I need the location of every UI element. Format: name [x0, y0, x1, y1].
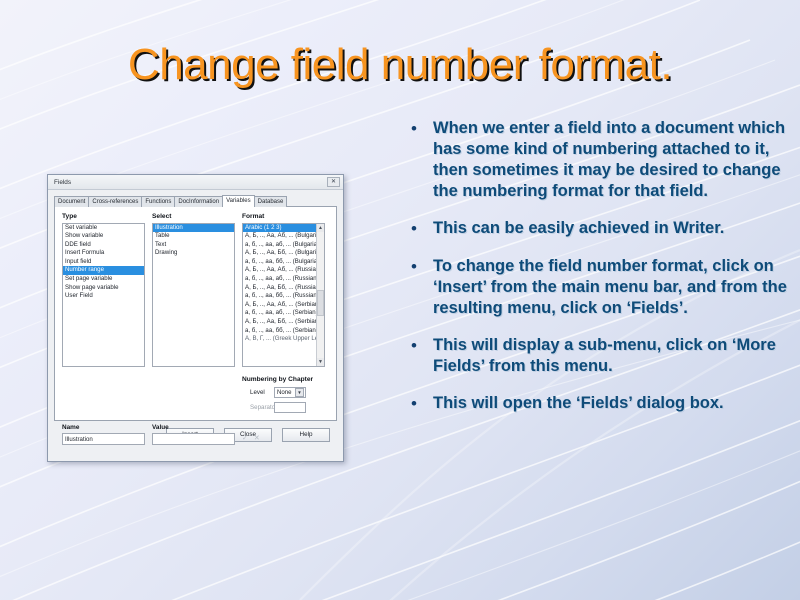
type-column-label: Type — [62, 213, 145, 220]
list-item[interactable]: Text — [153, 241, 234, 250]
numbering-by-chapter-label: Numbering by Chapter — [242, 376, 325, 383]
variables-tab-panel: Type Set variable Show variable DDE fiel… — [54, 207, 337, 421]
list-item[interactable]: Show page variable — [63, 284, 144, 293]
bullet-marker-icon: • — [405, 256, 433, 278]
dialog-tab-strip: Document Cross-references Functions DocI… — [54, 195, 337, 207]
value-action-icons: ✓ ✕ — [242, 433, 260, 445]
numbering-by-chapter-group: Numbering by Chapter Level None ▼ Separa… — [242, 376, 325, 413]
type-column: Type Set variable Show variable DDE fiel… — [62, 213, 145, 417]
name-label: Name — [62, 424, 145, 431]
list-item-selected[interactable]: Illustration — [153, 224, 234, 233]
bullet-text: To change the field number format, click… — [433, 256, 790, 319]
value-field-group: Value — [152, 424, 235, 445]
list-item-selected[interactable]: Number range — [63, 266, 144, 275]
list-item[interactable]: а, б, .., аа, бб, ... (Russian) — [243, 292, 316, 301]
tab-database[interactable]: Database — [254, 196, 288, 207]
fields-dialog[interactable]: Fields ✕ Document Cross-references Funct… — [47, 174, 344, 462]
bullet-marker-icon: • — [405, 335, 433, 357]
format-column: Format Arabic (1 2 3) А, Б, .., Аа, Аб, … — [242, 213, 325, 417]
scroll-down-icon[interactable]: ▼ — [317, 358, 324, 366]
list-item[interactable]: а, б, .., аа, аб, ... (Bulgarian) — [243, 241, 316, 250]
list-item[interactable]: а, б, .., аа, бб, ... (Bulgarian) — [243, 258, 316, 267]
level-label: Level — [242, 389, 274, 396]
separator-label: Separator — [242, 404, 274, 411]
list-item[interactable]: Drawing — [153, 249, 234, 258]
dialog-titlebar[interactable]: Fields ✕ — [48, 175, 343, 190]
check-icon[interactable]: ✓ — [242, 433, 248, 444]
list-item[interactable]: DDE field — [63, 241, 144, 250]
format-listbox-scrollbar[interactable]: ▲ ▼ — [316, 224, 324, 366]
list-item[interactable]: Insert Formula — [63, 249, 144, 258]
level-row: Level None ▼ — [242, 387, 325, 398]
slide-bullet-list: • When we enter a field into a document … — [405, 118, 790, 431]
tab-docinformation[interactable]: DocInformation — [174, 196, 223, 207]
separator-row: Separator — [242, 402, 325, 413]
bullet-text: This will open the ‘Fields’ dialog box. — [433, 393, 790, 414]
list-item: • This will open the ‘Fields’ dialog box… — [405, 393, 790, 415]
list-item: • When we enter a field into a document … — [405, 118, 790, 202]
bullet-marker-icon: • — [405, 118, 433, 140]
list-item[interactable]: А, Б, .., Аа, Бб, ... (Russian) — [243, 284, 316, 293]
format-listbox[interactable]: Arabic (1 2 3) А, Б, .., Аа, Аб, ... (Bu… — [242, 223, 325, 367]
close-icon[interactable]: ✕ — [327, 177, 340, 187]
tab-document[interactable]: Document — [54, 196, 89, 207]
list-item: • To change the field number format, cli… — [405, 256, 790, 319]
list-item[interactable]: User Field — [63, 292, 144, 301]
list-item[interactable]: А, Б, .., Аа, Бб, ... (Bulgarian) — [243, 249, 316, 258]
value-input[interactable] — [152, 433, 235, 445]
list-item[interactable]: Set variable — [63, 224, 144, 233]
list-item[interactable]: А, Б, .., Аа, Бб, ... (Serbian) — [243, 318, 316, 327]
list-item[interactable]: А, Б, .., Аа, Аб, ... (Serbian) — [243, 301, 316, 310]
cross-icon[interactable]: ✕ — [254, 433, 260, 444]
select-column-label: Select — [152, 213, 235, 220]
select-listbox[interactable]: Illustration Table Text Drawing — [152, 223, 235, 367]
list-item[interactable]: а, б, .., аа, аб, ... (Serbian) — [243, 309, 316, 318]
list-item: • This can be easily achieved in Writer. — [405, 218, 790, 240]
tab-functions[interactable]: Functions — [141, 196, 175, 207]
bullet-marker-icon: • — [405, 393, 433, 415]
dialog-title: Fields — [54, 179, 327, 186]
name-input[interactable]: Illustration — [62, 433, 145, 445]
scroll-up-icon[interactable]: ▲ — [317, 224, 324, 232]
list-item[interactable]: а, б, .., аа, бб, ... (Serbian) — [243, 327, 316, 336]
slide-title: Change field number format. — [0, 40, 800, 90]
tab-variables[interactable]: Variables — [222, 195, 255, 207]
bullet-text: This will display a sub-menu, click on ‘… — [433, 335, 790, 377]
list-item[interactable]: Table — [153, 232, 234, 241]
separator-input[interactable] — [274, 402, 306, 413]
type-listbox[interactable]: Set variable Show variable DDE field Ins… — [62, 223, 145, 367]
level-dropdown[interactable]: None ▼ — [274, 387, 306, 398]
bullet-text: When we enter a field into a document wh… — [433, 118, 790, 202]
format-column-label: Format — [242, 213, 325, 220]
bullet-marker-icon: • — [405, 218, 433, 240]
level-value: None — [275, 389, 295, 396]
chevron-down-icon[interactable]: ▼ — [295, 388, 304, 397]
list-item[interactable]: Input field — [63, 258, 144, 267]
select-column: Select Illustration Table Text Drawing — [152, 213, 235, 417]
scrollbar-thumb[interactable] — [317, 290, 324, 316]
tab-cross-references[interactable]: Cross-references — [88, 196, 142, 207]
bullet-text: This can be easily achieved in Writer. — [433, 218, 790, 239]
list-item[interactable]: Α, Β, Γ, ... (Greek Upper Le — [243, 335, 316, 344]
list-item[interactable]: Show variable — [63, 232, 144, 241]
name-value-row: Name Illustration Value ✓ ✕ — [62, 424, 329, 445]
list-item: • This will display a sub-menu, click on… — [405, 335, 790, 377]
list-item[interactable]: А, Б, .., Аа, Аб, ... (Bulgarian) — [243, 232, 316, 241]
name-field-group: Name Illustration — [62, 424, 145, 445]
list-item[interactable]: а, б, .., аа, аб, ... (Russian) — [243, 275, 316, 284]
value-label: Value — [152, 424, 235, 431]
list-item[interactable]: Set page variable — [63, 275, 144, 284]
list-item[interactable]: А, Б, .., Аа, Аб, ... (Russian) — [243, 266, 316, 275]
dialog-body: Document Cross-references Functions DocI… — [48, 190, 343, 448]
columns-container: Type Set variable Show variable DDE fiel… — [62, 213, 329, 417]
list-item-selected[interactable]: Arabic (1 2 3) — [243, 224, 316, 233]
